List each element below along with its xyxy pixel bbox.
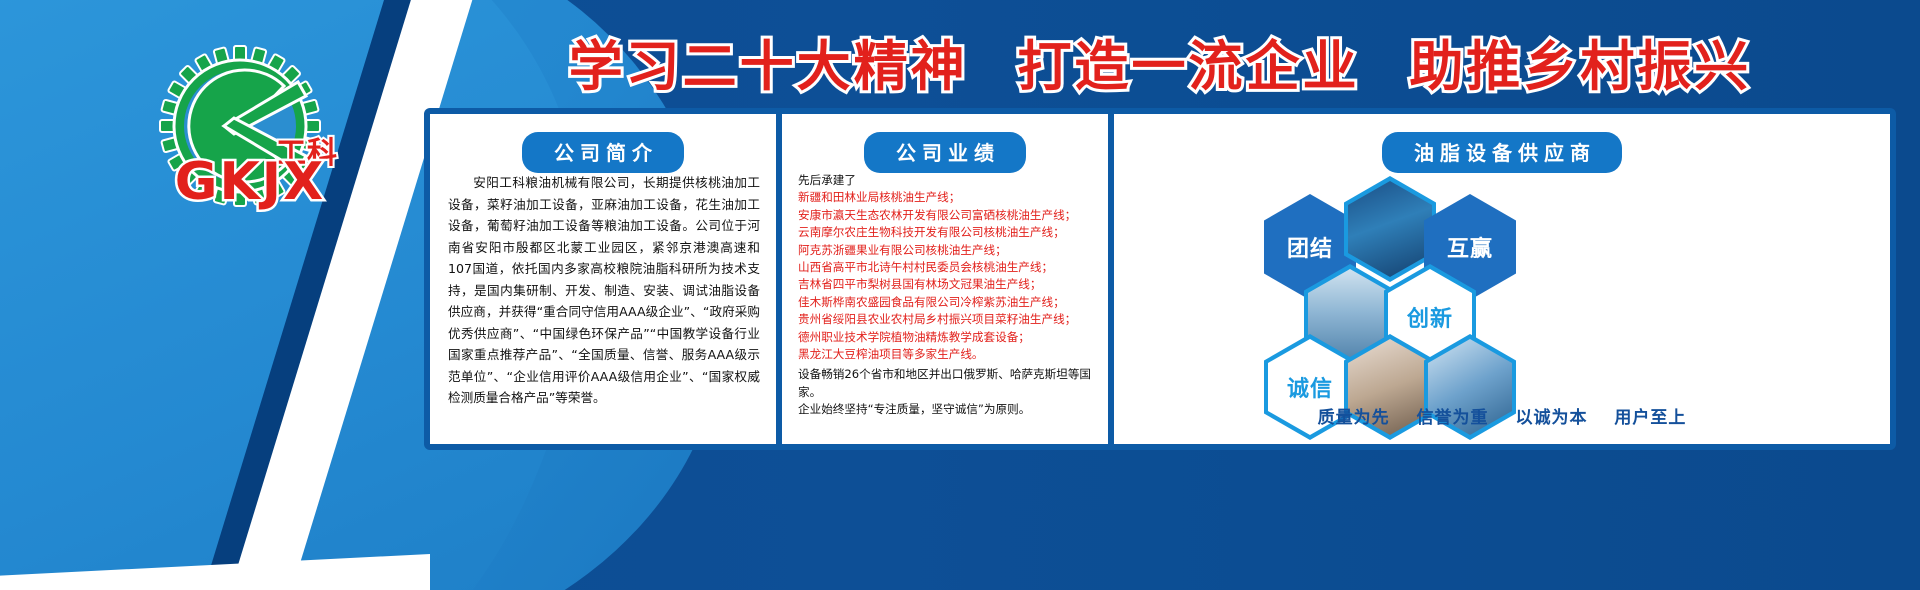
headline-segment-3: 助推乡村振兴: [1409, 35, 1751, 98]
slogan-part-4: 用户至上: [1614, 408, 1686, 428]
hex-label: 互赢: [1447, 231, 1493, 263]
slogan-part-3: 以诚为本: [1515, 408, 1587, 428]
panel-supplier: 油脂设备供应商 团结 互赢 创新 诚信: [1114, 114, 1890, 444]
hex-label: 诚信: [1287, 371, 1333, 403]
aircraft-carrier-photo-icon: [1344, 176, 1436, 282]
performance-project: 云南摩尔农庄生物科技开发有限公司核桃油生产线；: [798, 224, 1096, 241]
panel-company-performance: 公司业绩 先后承建了 新疆和田林业局核桃油生产线； 安康市瀛天生态农林开发有限公…: [782, 114, 1108, 444]
performance-project: 吉林省四平市梨树县国有林场文冠果油生产线；: [798, 276, 1096, 293]
supplier-slogan: 质量为先 信誉为重 以诚为本 用户至上: [1114, 403, 1890, 428]
company-profile-paragraph: 安阳工科粮油机械有限公司，长期提供核桃油加工设备，菜籽油加工设备，亚麻油加工设备…: [448, 172, 760, 409]
performance-project: 佳木斯桦南农盛园食品有限公司冷榨紫苏油生产线；: [798, 294, 1096, 311]
performance-footer-line: 企业始终坚持“专注质量，坚守诚信”为原则。: [798, 401, 1096, 418]
slogan-part-1: 质量为先: [1318, 408, 1390, 428]
headline-segment-1: 学习二十大精神: [569, 35, 968, 98]
hex-cluster: 团结 互赢 创新 诚信: [1114, 176, 1890, 376]
hex-label: 创新: [1407, 301, 1453, 333]
logo-latin-mark: GKJX: [140, 152, 360, 212]
banner-canvas: 工科 GKJX 学习二十大精神 打造一流企业 助推乡村振兴 公司简介 安阳工科粮…: [0, 0, 1920, 590]
company-profile-text: 安阳工科粮油机械有限公司，长期提供核桃油加工设备，菜籽油加工设备，亚麻油加工设备…: [448, 172, 760, 409]
performance-footer-line: 设备畅销26个省市和地区并出口俄罗斯、哈萨克斯坦等国家。: [798, 366, 1096, 401]
performance-project: 新疆和田林业局核桃油生产线；: [798, 189, 1096, 206]
performance-project: 德州职业技术学院植物油精炼教学成套设备；: [798, 329, 1096, 346]
panel-title-supplier: 油脂设备供应商: [1382, 132, 1622, 173]
hex-label: 团结: [1287, 231, 1333, 263]
company-performance-text: 先后承建了 新疆和田林业局核桃油生产线； 安康市瀛天生态农林开发有限公司富硒核桃…: [798, 172, 1096, 419]
panel-title-company-profile: 公司简介: [522, 132, 684, 173]
page-title: 学习二十大精神 打造一流企业 助推乡村振兴: [430, 22, 1890, 101]
panel-title-company-performance: 公司业绩: [864, 132, 1026, 173]
panel-company-profile: 公司简介 安阳工科粮油机械有限公司，长期提供核桃油加工设备，菜籽油加工设备，亚麻…: [430, 114, 776, 444]
headline-segment-2: 打造一流企业: [1018, 35, 1360, 98]
performance-project: 安康市瀛天生态农林开发有限公司富硒核桃油生产线；: [798, 207, 1096, 224]
performance-intro: 先后承建了: [798, 172, 1096, 189]
slogan-part-2: 信誉为重: [1417, 408, 1489, 428]
performance-project: 贵州省绥阳县农业农村局乡村振兴项目菜籽油生产线；: [798, 311, 1096, 328]
panel-strip: 公司简介 安阳工科粮油机械有限公司，长期提供核桃油加工设备，菜籽油加工设备，亚麻…: [424, 108, 1896, 450]
performance-project: 阿克苏浙疆果业有限公司核桃油生产线；: [798, 242, 1096, 259]
performance-project: 黑龙江大豆榨油项目等多家生产线。: [798, 346, 1096, 363]
performance-project: 山西省高平市北诗午村村民委员会核桃油生产线；: [798, 259, 1096, 276]
